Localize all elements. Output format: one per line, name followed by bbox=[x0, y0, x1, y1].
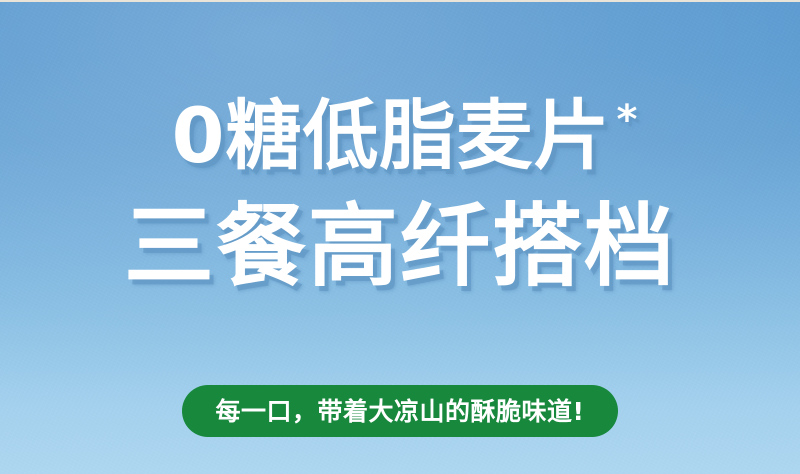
tagline-badge: 每一口，带着大凉山的酥脆味道! bbox=[182, 385, 619, 437]
headline-block: 0糖低脂麦片* 三餐高纤搭档 bbox=[0, 98, 800, 306]
headline-line-1-text: 0糖低脂麦片 bbox=[172, 98, 611, 174]
headline-line-2-text: 三餐高纤搭档 bbox=[124, 202, 676, 292]
headline-line-2: 三餐高纤搭档 bbox=[0, 202, 800, 306]
asterisk-superscript-icon: * bbox=[616, 100, 638, 140]
headline-line-1: 0糖低脂麦片* bbox=[0, 98, 800, 186]
promo-banner: 0糖低脂麦片* 三餐高纤搭档 每一口，带着大凉山的酥脆味道! bbox=[0, 0, 800, 474]
top-edge-strip bbox=[0, 0, 800, 2]
tagline-badge-label: 每一口，带着大凉山的酥脆味道! bbox=[216, 399, 585, 424]
tagline-badge-wrapper: 每一口，带着大凉山的酥脆味道! bbox=[0, 385, 800, 437]
